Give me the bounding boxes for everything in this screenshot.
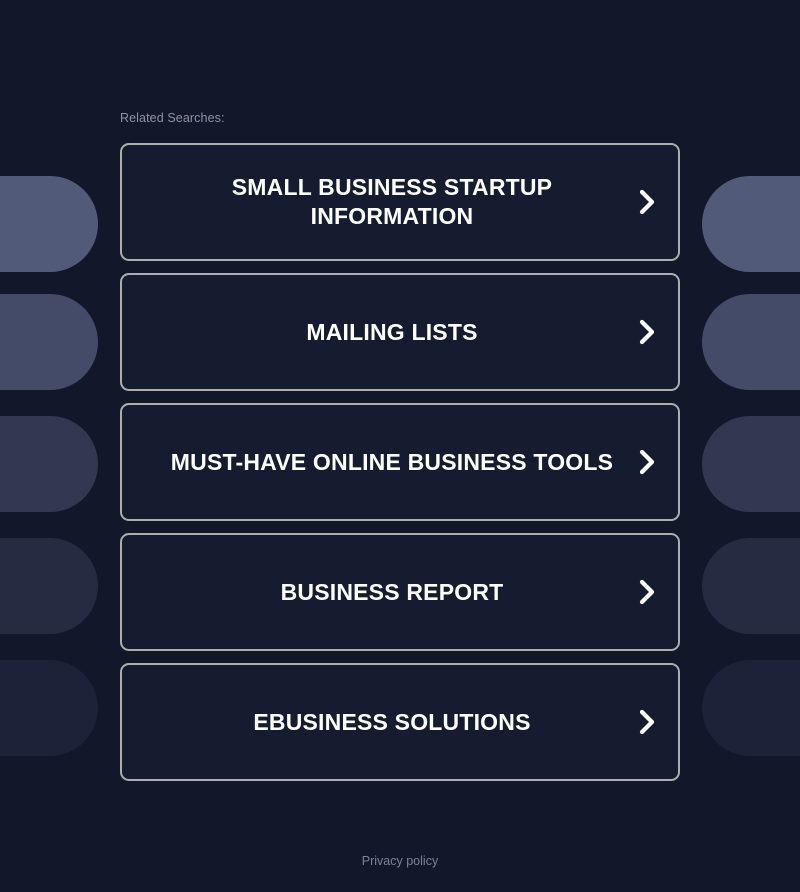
decorative-pill-right [702, 294, 800, 390]
decorative-pill-right [702, 176, 800, 272]
chevron-right-icon [636, 317, 658, 347]
decorative-pill-left [0, 176, 98, 272]
related-search-card[interactable]: BUSINESS REPORT [120, 533, 680, 651]
privacy-policy-link[interactable]: Privacy policy [362, 854, 438, 868]
decorative-pill-left [0, 538, 98, 634]
related-search-label: SMALL BUSINESS STARTUP INFORMATION [162, 173, 622, 231]
chevron-right-icon [636, 707, 658, 737]
decorative-pill-right [702, 416, 800, 512]
decorative-pill-right [702, 660, 800, 756]
related-search-card[interactable]: SMALL BUSINESS STARTUP INFORMATION [120, 143, 680, 261]
decorative-pill-left [0, 660, 98, 756]
chevron-right-icon [636, 447, 658, 477]
decorative-pill-right [702, 538, 800, 634]
chevron-right-icon [636, 577, 658, 607]
related-search-card[interactable]: MAILING LISTS [120, 273, 680, 391]
related-search-label: MUST-HAVE ONLINE BUSINESS TOOLS [171, 448, 613, 477]
related-search-label: BUSINESS REPORT [281, 578, 504, 607]
related-search-card[interactable]: MUST-HAVE ONLINE BUSINESS TOOLS [120, 403, 680, 521]
decorative-pill-left [0, 294, 98, 390]
related-search-card[interactable]: EBUSINESS SOLUTIONS [120, 663, 680, 781]
related-searches-panel: Related Searches: SMALL BUSINESS STARTUP… [120, 0, 680, 781]
related-search-label: MAILING LISTS [306, 318, 477, 347]
chevron-right-icon [636, 187, 658, 217]
related-searches-label: Related Searches: [120, 110, 680, 126]
related-search-label: EBUSINESS SOLUTIONS [253, 708, 530, 737]
footer: Privacy policy [0, 852, 800, 870]
decorative-pill-left [0, 416, 98, 512]
